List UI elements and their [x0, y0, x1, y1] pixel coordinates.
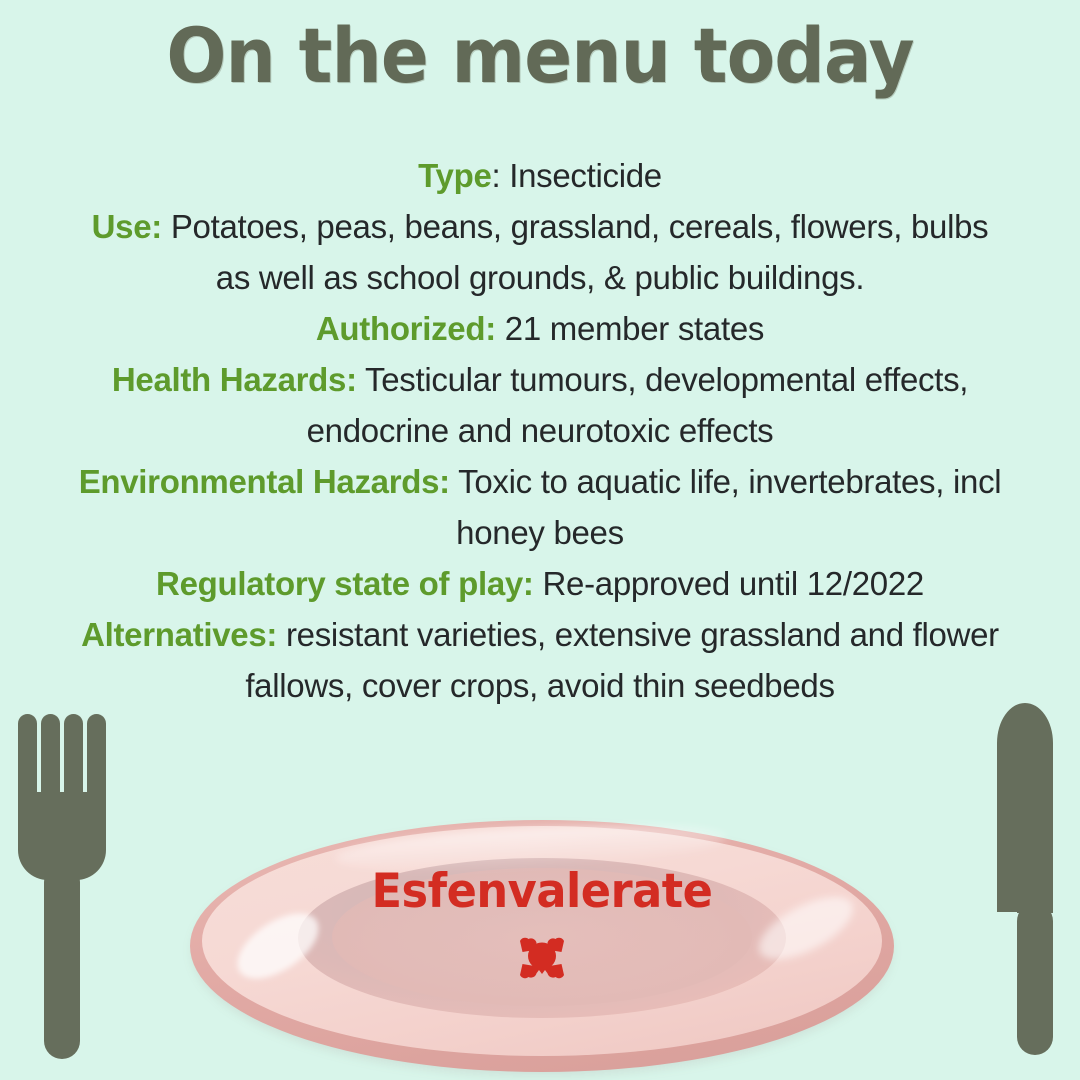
hazard-icon-wrap: [186, 932, 898, 989]
fact-sep-type: :: [492, 157, 510, 194]
knife-icon: [995, 703, 1055, 1055]
fact-row-alternatives: Alternatives: resistant varieties, exten…: [75, 609, 1005, 711]
fact-row-health-hazards: Health Hazards: Testicular tumours, deve…: [75, 354, 1005, 456]
fact-label-regulatory-state: Regulatory state of play:: [156, 565, 534, 602]
fact-value-type: Insecticide: [509, 157, 662, 194]
fact-sep-environmental-hazards: [450, 463, 458, 500]
fact-value-health-hazards: Testicular tumours, developmental effect…: [307, 361, 969, 449]
fact-value-environmental-hazards: Toxic to aquatic life, invertebrates, in…: [456, 463, 1001, 551]
compound-name: Esfenvalerate: [204, 864, 880, 920]
fact-value-alternatives: resistant varieties, extensive grassland…: [245, 616, 999, 704]
fact-sep-authorized: [496, 310, 505, 347]
plate: Esfenvalerate: [186, 812, 898, 1080]
poster-canvas: On the menu today Type: Insecticide Use:…: [0, 0, 1080, 1080]
fact-value-use: Potatoes, peas, beans, grassland, cereal…: [171, 208, 989, 296]
fact-label-alternatives: Alternatives:: [81, 616, 277, 653]
fact-label-type: Type: [418, 157, 491, 194]
fact-value-regulatory-state: Re-approved until 12/2022: [543, 565, 924, 602]
fact-row-environmental-hazards: Environmental Hazards: Toxic to aquatic …: [75, 456, 1005, 558]
fact-sep-alternatives: [277, 616, 286, 653]
fact-label-authorized: Authorized:: [316, 310, 496, 347]
fact-row-authorized: Authorized: 21 member states: [75, 303, 1005, 354]
fact-sep-regulatory-state: [534, 565, 543, 602]
fact-label-environmental-hazards: Environmental Hazards:: [79, 463, 450, 500]
fact-label-use: Use:: [92, 208, 162, 245]
skull-and-crossbones-icon: [514, 932, 570, 984]
fact-row-regulatory-state: Regulatory state of play: Re-approved un…: [75, 558, 1005, 609]
fact-list: Type: Insecticide Use: Potatoes, peas, b…: [75, 150, 1005, 711]
fact-sep-health-hazards: [357, 361, 365, 398]
page-title: On the menu today: [38, 8, 1042, 104]
fact-row-use: Use: Potatoes, peas, beans, grassland, c…: [75, 201, 1005, 303]
fact-label-health-hazards: Health Hazards:: [112, 361, 357, 398]
fact-sep-use: [162, 208, 171, 245]
fact-value-authorized: 21 member states: [505, 310, 764, 347]
fork-icon: [18, 714, 106, 1059]
fact-row-type: Type: Insecticide: [75, 150, 1005, 201]
